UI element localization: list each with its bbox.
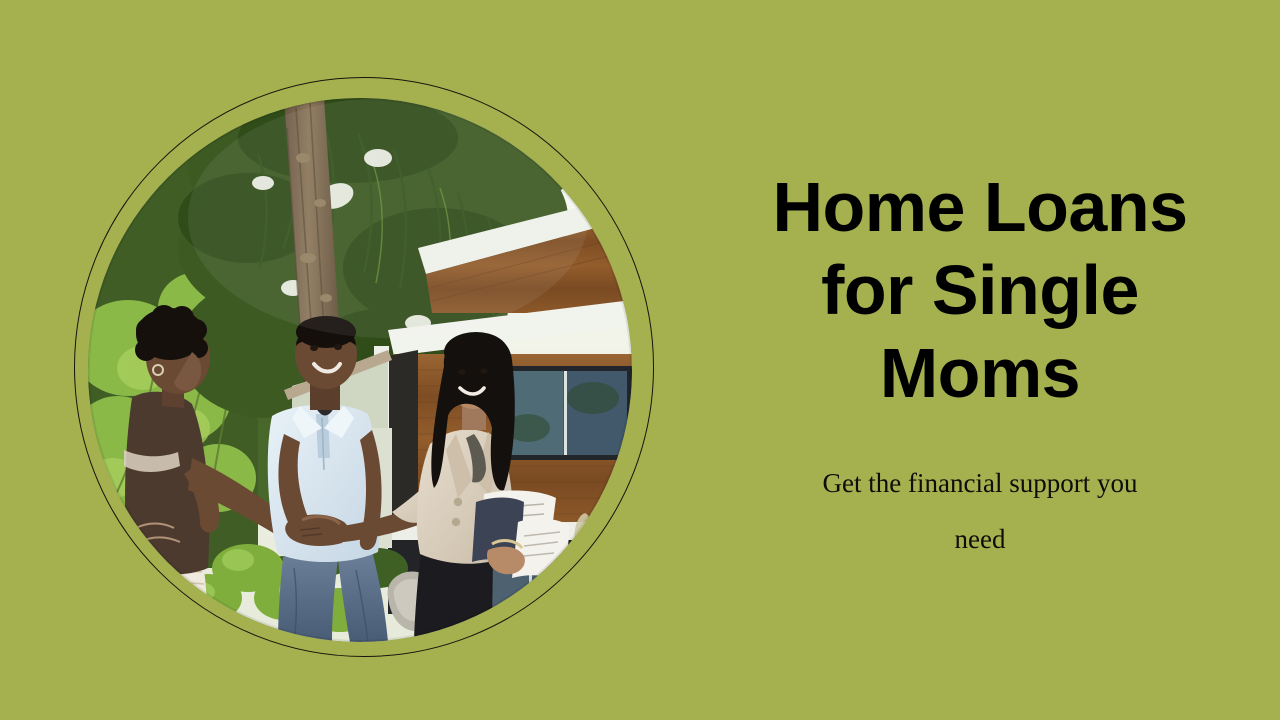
headline-line-3: Moms bbox=[700, 332, 1260, 415]
slide-canvas: Home Loans for Single Moms Get the finan… bbox=[0, 0, 1280, 720]
subtitle-line-1: Get the financial support you bbox=[700, 455, 1260, 511]
subtitle-line-2: need bbox=[700, 511, 1260, 567]
text-column: Home Loans for Single Moms Get the finan… bbox=[700, 0, 1260, 720]
hero-photo-image bbox=[88, 98, 632, 642]
headline-line-2: for Single bbox=[700, 249, 1260, 332]
subtitle: Get the financial support you need bbox=[700, 455, 1260, 567]
page-title: Home Loans for Single Moms bbox=[700, 166, 1260, 415]
hero-photo-circle bbox=[88, 98, 632, 642]
headline-line-1: Home Loans bbox=[700, 166, 1260, 249]
